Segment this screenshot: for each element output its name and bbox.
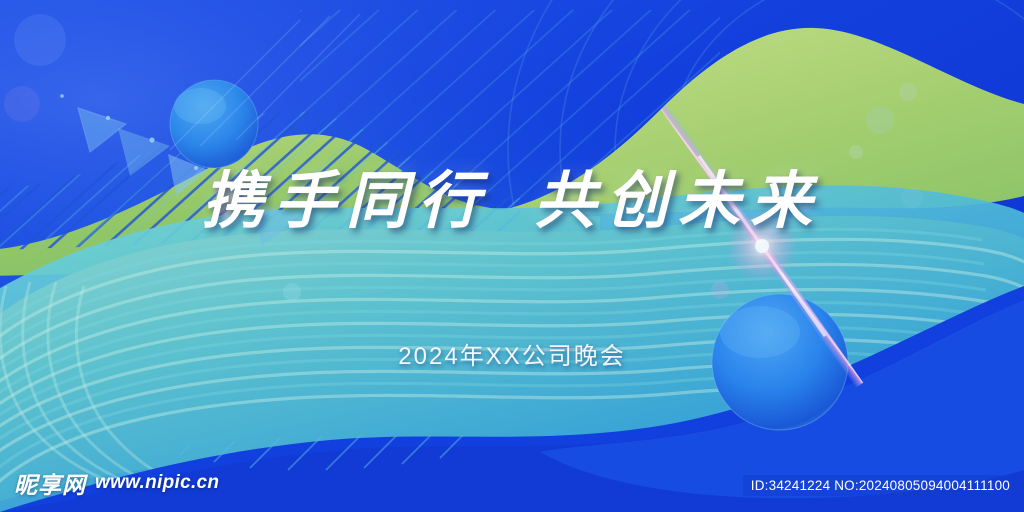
sphere-top-left xyxy=(170,80,258,168)
watermark-url: www.nipic.cn xyxy=(95,472,219,494)
asset-id-tag: ID:34241224 NO:20240805094004111100 xyxy=(743,475,1018,496)
title-left: 携手同行 xyxy=(202,164,490,237)
page-title: 携手同行共创未来 xyxy=(0,168,1024,233)
banner-canvas: 携手同行共创未来 2024年XX公司晚会 昵享网 www.nipic.cn ID… xyxy=(0,0,1024,512)
page-subtitle: 2024年XX公司晚会 xyxy=(0,336,1024,371)
background-artwork xyxy=(0,0,1024,512)
nipic-logo: 昵享网 xyxy=(14,466,86,500)
title-right: 共创未来 xyxy=(534,164,822,237)
watermark: 昵享网 www.nipic.cn xyxy=(14,466,219,500)
